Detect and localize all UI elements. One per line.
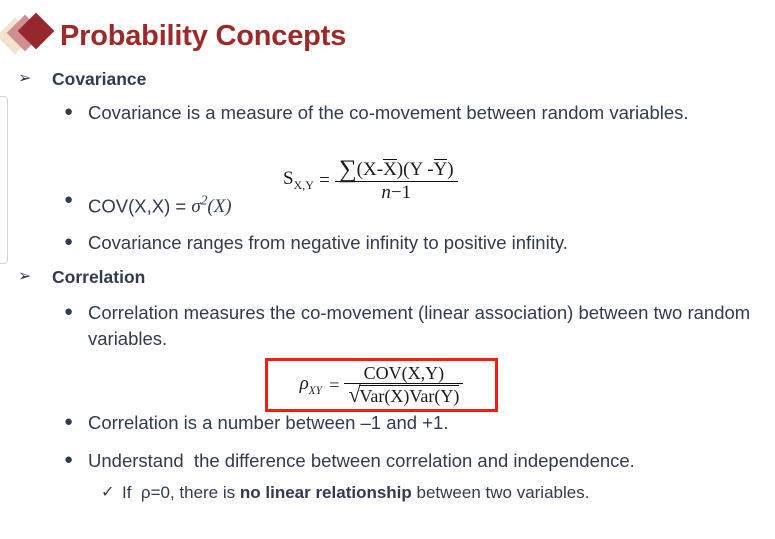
variable-x: X (214, 196, 226, 217)
slide: Probability Concepts ➢ Covariance ● Cova… (0, 0, 775, 539)
arrow-bullet-icon: ➢ (18, 66, 31, 92)
bullet-text: Covariance is a measure of the co-moveme… (88, 102, 689, 123)
subbullet-no-linear-relationship: ✓ If ρ=0, there is no linear relationshi… (0, 480, 775, 505)
subbullet-bold-phrase: no linear relationship (240, 483, 412, 502)
dot-bullet-icon: ● (64, 99, 73, 125)
rho-subscript: XY (309, 385, 322, 397)
arrow-bullet-icon: ➢ (18, 264, 31, 290)
formula-fraction: COV(X,Y) √Var(X)Var(Y) (344, 364, 463, 407)
formula-lhs-subscript: X,Y (294, 179, 315, 192)
subbullet-prefix: If ρ=0, there is (122, 483, 240, 502)
section-heading-label: Covariance (52, 69, 146, 89)
bullet-text: Covariance ranges from negative infinity… (88, 232, 568, 253)
bullet-understand-difference: ● Understand the difference between corr… (0, 448, 775, 474)
slide-body: ➢ Covariance ● Covariance is a measure o… (0, 66, 775, 505)
bullet-correlation-range: ● Correlation is a number between –1 and… (0, 410, 775, 436)
formula-equals: = (314, 170, 335, 192)
rho-symbol: ρ (300, 373, 309, 394)
bullet-covariance-range: ● Covariance ranges from negative infini… (0, 230, 775, 256)
dot-bullet-icon: ● (64, 299, 73, 325)
formula-numerator: COV(X,Y) (344, 364, 463, 383)
slide-title-row: Probability Concepts (0, 8, 346, 64)
bullet-text: Understand the difference between correl… (88, 450, 635, 471)
dot-bullet-icon: ● (64, 229, 73, 255)
bullet-text: Correlation measures the co-movement (li… (88, 302, 750, 349)
subbullet-suffix: between two variables. (412, 483, 590, 502)
formula-numerator: ∑(X-X)(Y -Y) (335, 158, 458, 181)
section-heading-label: Correlation (52, 267, 145, 287)
dot-bullet-icon: ● (64, 409, 73, 435)
bullet-text: Correlation is a number between –1 and +… (88, 412, 448, 433)
dot-bullet-icon: ● (64, 447, 73, 473)
formula-denominator: n−1 (335, 181, 458, 204)
formula-correlation-highlighted: ρXY = COV(X,Y) √Var(X)Var(Y) (265, 358, 498, 412)
section-heading-correlation: ➢ Correlation (0, 264, 775, 290)
formula-fraction: ∑(X-X)(Y -Y) n−1 (335, 158, 458, 203)
bullet-covariance-definition: ● Covariance is a measure of the co-move… (0, 100, 775, 126)
sigma-squared-expression: σ2(X) (191, 196, 231, 217)
page-title: Probability Concepts (60, 22, 346, 51)
summation-symbol: ∑ (339, 156, 357, 183)
numerator-open: (X- (357, 159, 383, 180)
three-diamonds-logo-icon (2, 12, 60, 60)
radical-sign-icon: √ (348, 384, 360, 407)
denominator-n: n (381, 182, 391, 203)
y-bar: Y (434, 159, 448, 179)
section-heading-covariance: ➢ Covariance (0, 66, 775, 92)
check-bullet-icon: ✓ (101, 480, 114, 505)
formula-equals: = (324, 375, 344, 396)
close-paren: ) (225, 196, 231, 217)
formula-lhs: SX,Y (283, 168, 314, 193)
sigma-symbol: σ (191, 196, 200, 217)
formula-covariance: SX,Y = ∑(X-X)(Y -Y) n−1 (283, 158, 458, 203)
bullet-text: COV(X,X) = (88, 195, 191, 216)
denominator-rest: −1 (391, 182, 411, 203)
radical-expression: √Var(X)Var(Y) (348, 385, 459, 406)
dot-bullet-icon: ● (64, 187, 73, 213)
bullet-correlation-definition: ● Correlation measures the co-movement (… (0, 300, 775, 352)
radicand: Var(X)Var(Y) (359, 385, 459, 406)
x-bar: X (383, 159, 397, 179)
formula-lhs-symbol: S (283, 168, 294, 189)
numerator-close: ) (447, 159, 453, 180)
numerator-mid: )(Y - (397, 159, 434, 180)
formula-denominator: √Var(X)Var(Y) (344, 383, 463, 406)
formula-lhs: ρXY (300, 373, 323, 397)
